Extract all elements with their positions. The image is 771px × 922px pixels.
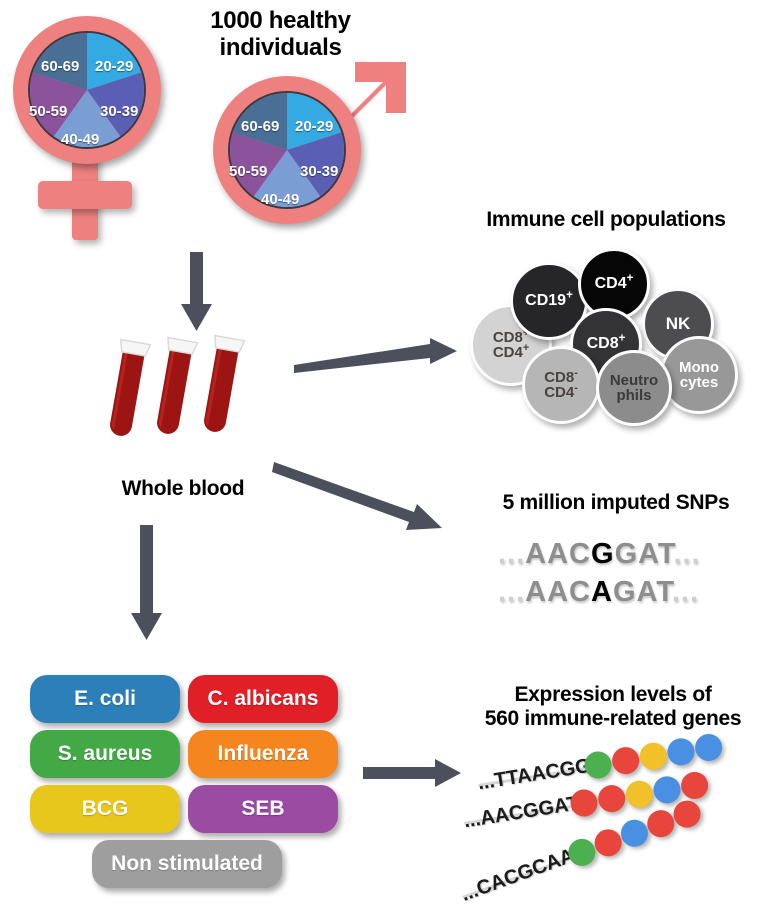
male-pie-label-50-59: 50-59 [229, 163, 267, 180]
snp-suffix: ... [672, 576, 699, 608]
stimulus-seb[interactable]: SEB [188, 785, 338, 833]
stimulus-label: BCG [82, 797, 129, 821]
gene-dot [670, 797, 705, 832]
female-pie-label-20-29: 20-29 [95, 58, 133, 75]
expression-section-title: Expression levels of 560 immune-related … [458, 683, 768, 730]
snp-prefix: ... [498, 576, 525, 608]
stimulus-label: Non stimulated [111, 852, 263, 876]
immune-cell-cd8n-cd4n: CD8- CD4- [522, 346, 600, 424]
immune-cell-label: NK [666, 315, 691, 332]
snp-variant: A [591, 576, 613, 608]
gene-dot [638, 741, 669, 772]
gene-dot [624, 779, 655, 810]
immune-cell-label: CD8+ CD4+ [493, 330, 529, 361]
immune-cell-label: CD19+ [525, 293, 573, 309]
snp-sequence-row: ...AACAGAT... [498, 576, 699, 609]
expression-title-line1: Expression levels of [458, 683, 768, 707]
gene-dot [596, 783, 627, 814]
immune-section-title: Immune cell populations [446, 208, 766, 232]
male-symbol: 20-29 30-39 40-49 50-59 60-69 [205, 34, 420, 249]
stimulus-label: C. albicans [208, 687, 319, 711]
snp-post: GAT [613, 576, 672, 608]
gene-strands: ...TTAACGG ...AACGGAT ...CACGCAA [468, 748, 768, 913]
gene-dot [666, 736, 697, 767]
page-title-line1: 1000 healthy [178, 8, 383, 35]
snp-variant: G [591, 538, 615, 570]
female-pie-label-30-39: 30-39 [100, 103, 138, 120]
expression-title-line2: 560 immune-related genes [458, 707, 768, 731]
stimulus-label: Influenza [217, 742, 308, 766]
immune-cell-label: CD4+ [595, 276, 634, 292]
immune-cell-cluster: CD8+ CD4+ CD19+ CD4+ NK CD8+ Monocytes C… [470, 242, 760, 427]
snp-pre: AAC [525, 538, 591, 570]
gene-dot [693, 732, 724, 763]
female-symbol-crossbar [38, 181, 132, 209]
male-pie-label-30-39: 30-39 [300, 163, 338, 180]
stimulus-c-albicans[interactable]: C. albicans [188, 675, 338, 723]
immune-cell-label: Monocytes [679, 360, 719, 391]
snp-section-title: 5 million imputed SNPs [466, 491, 766, 515]
stimulus-label: E. coli [74, 687, 136, 711]
whole-blood-label: Whole blood [88, 477, 278, 501]
strand-sequence: ...CACGCAA [458, 845, 578, 907]
arrow-stimuli-to-expression [363, 755, 468, 795]
stimulus-label: S. aureus [58, 742, 153, 766]
immune-cell-label: Neutrophils [610, 373, 658, 404]
male-pie-label-20-29: 20-29 [295, 118, 333, 135]
arrow-cohort-to-blood [178, 252, 218, 334]
female-pie-label-50-59: 50-59 [29, 103, 67, 120]
stimulus-s-aureus[interactable]: S. aureus [30, 730, 180, 778]
immune-cell-neutrophils: Neutrophils [596, 350, 672, 426]
blood-tubes [108, 336, 258, 461]
snp-prefix: ... [498, 538, 525, 570]
stimulus-bcg[interactable]: BCG [30, 785, 180, 833]
gene-dot [610, 745, 641, 776]
arrow-blood-to-snps [272, 450, 462, 550]
arrow-blood-to-immune [294, 330, 464, 390]
arrow-blood-to-stimuli [128, 525, 168, 643]
female-symbol: 20-29 30-39 40-49 50-59 60-69 [10, 14, 190, 244]
male-pie-label-40-49: 40-49 [261, 191, 299, 208]
snp-suffix: ... [673, 538, 700, 570]
immune-cell-label: CD8- CD4- [544, 370, 578, 401]
immune-cell-monocytes: Monocytes [660, 336, 738, 414]
female-pie-label-40-49: 40-49 [61, 131, 99, 148]
male-pie-label-60-69: 60-69 [241, 118, 279, 135]
snp-pre: AAC [525, 576, 591, 608]
female-pie-label-60-69: 60-69 [41, 58, 79, 75]
stimulus-label: SEB [241, 797, 284, 821]
stimulus-non-stimulated[interactable]: Non stimulated [92, 840, 282, 888]
snp-post: GAT [615, 538, 674, 570]
stimulus-e-coli[interactable]: E. coli [30, 675, 180, 723]
snp-sequence-row: ...AACGGAT... [498, 538, 701, 571]
stimulus-influenza[interactable]: Influenza [188, 730, 338, 778]
immune-cell-label: CD8+ [587, 336, 626, 352]
stimuli-panel: E. coli C. albicans S. aureus Influenza … [30, 675, 350, 895]
